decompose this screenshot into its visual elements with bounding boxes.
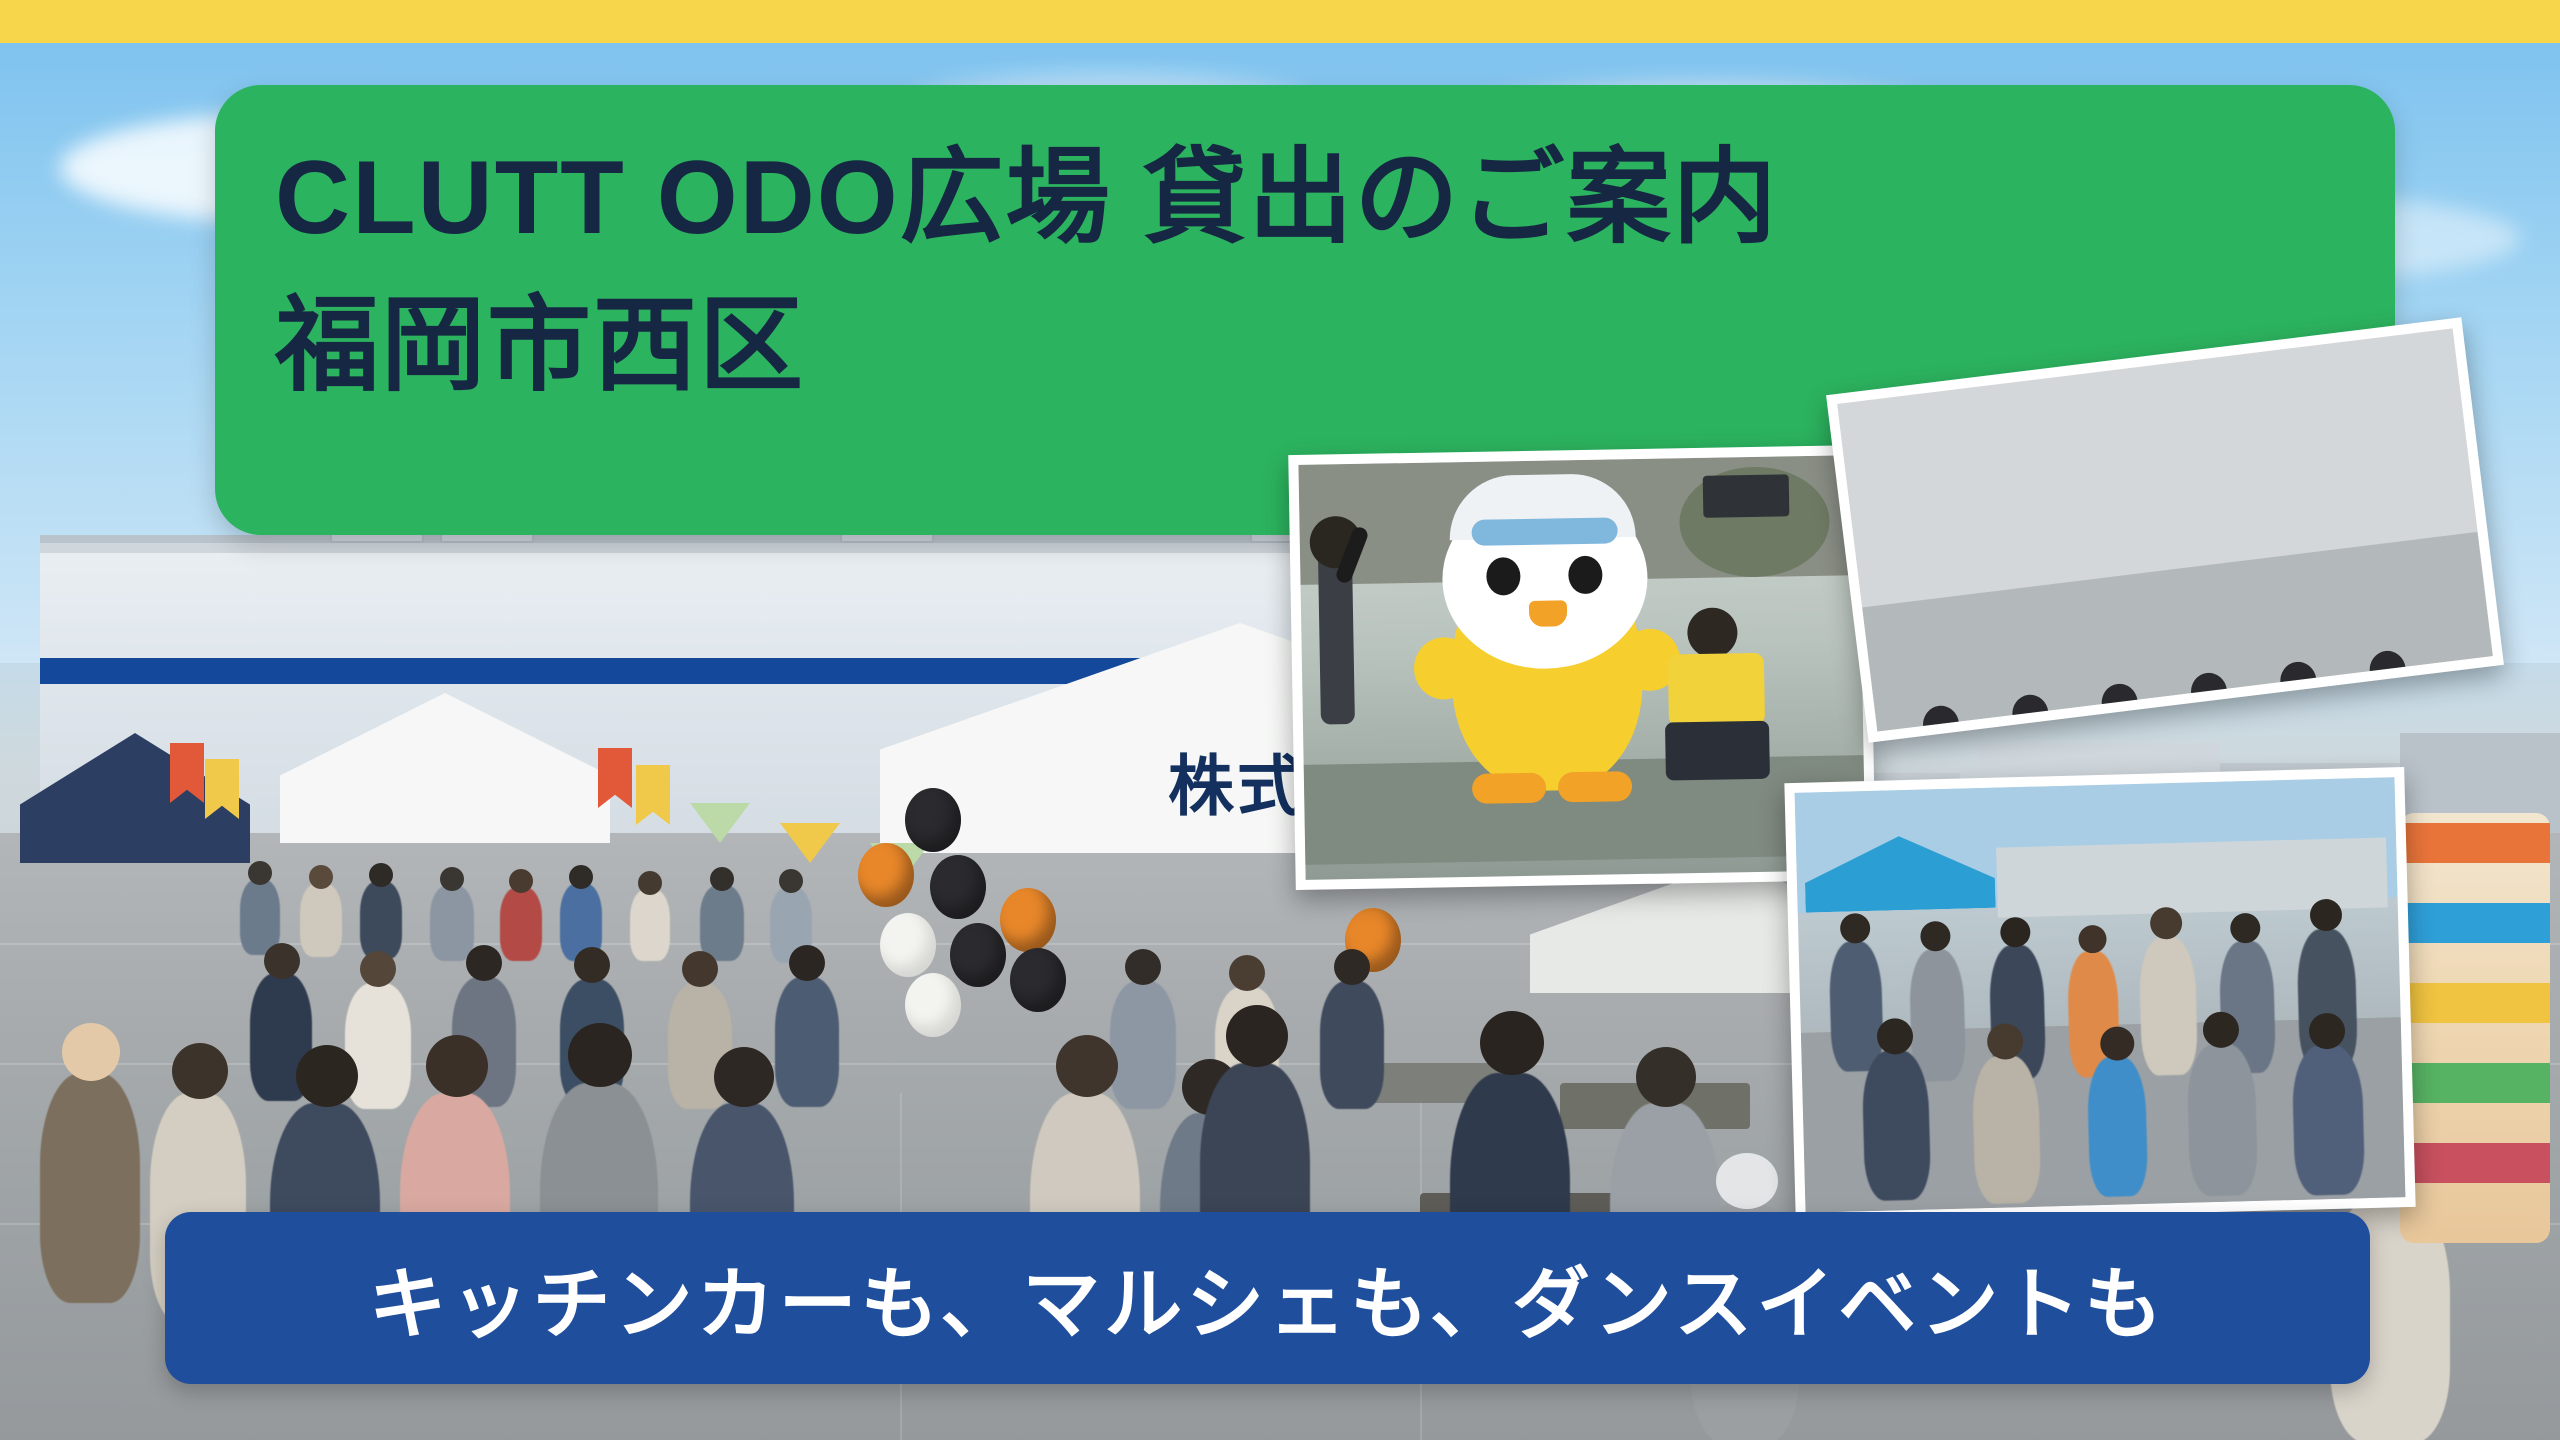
crowd-person-head	[1920, 921, 1951, 952]
staff-head	[1687, 607, 1738, 658]
bottom-ribbon-text: キッチンカーも、マルシェも、ダンスイベントも	[369, 1242, 2167, 1354]
crowd-person	[2087, 1056, 2149, 1197]
crowd-person	[1829, 941, 1884, 1072]
crowd-person-head	[2310, 899, 2343, 932]
balloon	[858, 843, 914, 907]
crowd-person	[775, 977, 839, 1107]
crowd-person-head	[1056, 1035, 1118, 1097]
crowd-person-head	[1229, 955, 1265, 991]
crowd-person-head	[466, 945, 502, 981]
crowd-person	[1861, 1050, 1931, 1202]
parking-sign	[1703, 474, 1790, 517]
bottom-ribbon: キッチンカーも、マルシェも、ダンスイベントも	[165, 1212, 2370, 1384]
crowd-person	[1320, 981, 1384, 1109]
staff-person	[1661, 607, 1784, 784]
crowd-person-head	[2150, 907, 2183, 940]
crowd-person-head	[509, 869, 533, 893]
crowd-person-head	[296, 1045, 358, 1107]
crowd-person-head	[779, 869, 803, 893]
crowd-person	[700, 885, 744, 961]
mascot-goggles	[1471, 517, 1617, 546]
crowd-person-head	[574, 947, 610, 983]
art-stripe	[2400, 903, 2550, 943]
crowd-photo-content	[1795, 777, 2406, 1213]
crowd-person-head	[1480, 1011, 1544, 1075]
crowd-queue-photo	[1784, 767, 2415, 1223]
balloon	[930, 855, 986, 919]
colorful-art-object	[2400, 813, 2550, 1243]
mascot-beak	[1529, 600, 1567, 627]
crowd-person	[500, 887, 542, 961]
crowd-person-head	[172, 1043, 228, 1099]
crowd-person	[630, 889, 670, 961]
crowd-person-head	[714, 1047, 774, 1107]
crowd-person-head	[569, 865, 593, 889]
crowd-person-head	[426, 1035, 488, 1097]
crowd-person-head	[309, 865, 333, 889]
crowd-person-head	[1125, 949, 1161, 985]
crowd-person-head	[440, 867, 464, 891]
crowd-person	[1110, 981, 1176, 1109]
balloon	[880, 913, 936, 977]
mascot-foot-right	[1558, 771, 1633, 802]
balloon	[1010, 948, 1066, 1012]
crowd-person-head	[682, 951, 718, 987]
title-line-1: CLUTT ODO広場 貸出のご案内	[275, 135, 1778, 262]
crowd-person-head	[568, 1023, 632, 1087]
crowd-person-head	[638, 871, 662, 895]
crowd-person-head	[264, 943, 300, 979]
dance-photo-content	[1837, 328, 2493, 731]
crowd-person-head	[1636, 1047, 1696, 1107]
staff-pants	[1665, 721, 1770, 781]
art-stripe	[2400, 983, 2550, 1023]
crowd-person	[360, 881, 402, 959]
crowd-person	[345, 983, 411, 1109]
crowd-person-head	[248, 861, 272, 885]
poster-root: 株式会	[0, 0, 2560, 1440]
crowd-person-head	[1840, 913, 1871, 944]
crowd-person-head	[1716, 1153, 1778, 1209]
mascot-foot-left	[1472, 773, 1547, 804]
crowd-person	[2139, 937, 2199, 1076]
balloon	[1000, 888, 1056, 952]
balloon	[905, 973, 961, 1037]
art-stripe	[2400, 1143, 2550, 1183]
staff-shirt	[1668, 653, 1765, 727]
title-line-2: 福岡市西区	[275, 283, 805, 410]
crowd-person-head	[789, 945, 825, 981]
crowd-person	[1972, 1055, 2042, 1205]
crowd-person-head	[1334, 949, 1370, 985]
mascot-photo-content	[1298, 455, 1865, 880]
crowd-person-head	[2230, 913, 2261, 944]
crowd-person-head	[1226, 1005, 1288, 1067]
crowd-person-head	[360, 951, 396, 987]
crowd-person	[2291, 1044, 2365, 1196]
art-stripe	[2400, 823, 2550, 863]
crowd-person-head	[2000, 917, 2031, 948]
crowd-person	[300, 883, 342, 957]
crowd-person-head	[62, 1023, 120, 1081]
crowd-person	[2186, 1043, 2258, 1197]
crowd-person	[430, 885, 474, 961]
crowd-person-head	[369, 863, 393, 887]
balloon	[905, 788, 961, 852]
crowd-person-head	[710, 867, 734, 891]
crowd-person-head	[2078, 925, 2107, 954]
balloon	[950, 923, 1006, 987]
crowd-person	[40, 1073, 140, 1303]
art-stripe	[2400, 1063, 2550, 1103]
